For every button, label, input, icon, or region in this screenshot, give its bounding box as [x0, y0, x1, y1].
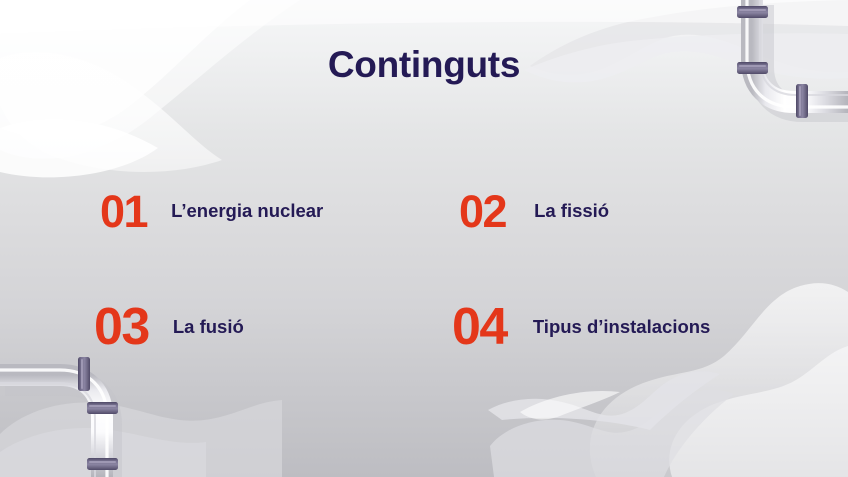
slide-canvas: Continguts 01 L’energia nuclear 02 La fi…: [0, 0, 848, 477]
list-item-number: 01: [100, 189, 147, 234]
slide-content: Continguts 01 L’energia nuclear 02 La fi…: [0, 0, 848, 477]
contents-row: 01 L’energia nuclear 02 La fissió: [86, 150, 806, 272]
list-item-04[interactable]: 04 Tipus d’instalacions: [448, 301, 806, 353]
list-item-number: 02: [459, 189, 506, 234]
list-item-label: L’energia nuclear: [171, 200, 323, 221]
list-item-03[interactable]: 03 La fusió: [86, 301, 448, 353]
list-item-number: 04: [452, 301, 507, 353]
list-item-label: La fusió: [173, 316, 244, 337]
list-item-02[interactable]: 02 La fissió: [447, 189, 806, 234]
contents-list: 01 L’energia nuclear 02 La fissió 03 La …: [86, 150, 806, 382]
list-item-01[interactable]: 01 L’energia nuclear: [86, 189, 447, 234]
list-item-label: Tipus d’instalacions: [533, 316, 711, 337]
list-item-label: La fissió: [534, 200, 609, 221]
contents-row: 03 La fusió 04 Tipus d’instalacions: [86, 272, 806, 382]
list-item-number: 03: [94, 301, 149, 353]
page-title: Continguts: [0, 44, 848, 86]
